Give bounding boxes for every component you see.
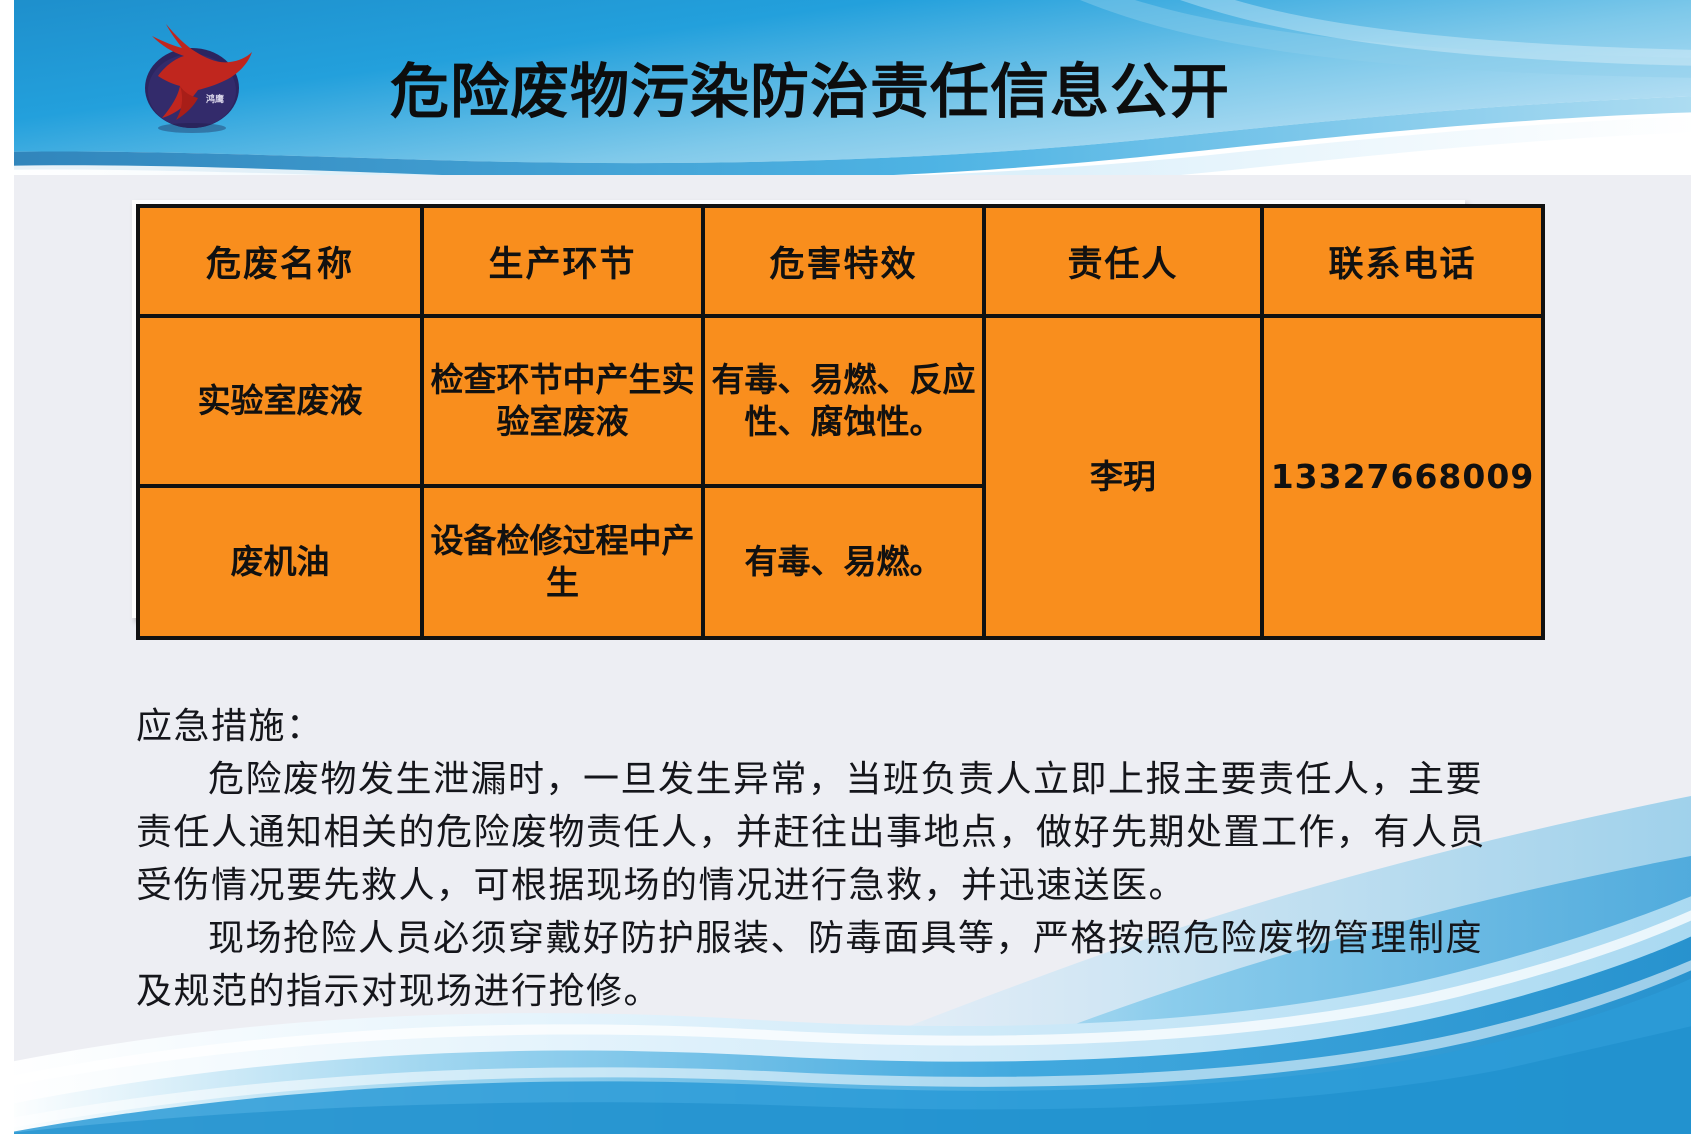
column-header-production: 生产环节 [422,206,703,316]
eagle-emblem-logo: 鸿鹰 [110,18,275,133]
column-header-hazard: 危害特效 [703,206,984,316]
cell-hazard: 有毒、易燃。 [703,486,984,638]
table-row: 实验室废液 检查环节中产生实验室废液 有毒、易燃、反应性、腐蚀性。 李玥 133… [138,316,1543,486]
right-page-edge [1691,0,1701,1134]
emergency-measures-block: 应急措施： 危险废物发生泄漏时，一旦发生异常，当班负责人立即上报主要责任人，主要… [136,700,1516,1018]
cell-waste-name: 废机油 [138,486,422,638]
emergency-heading: 应急措施： [136,700,1516,753]
column-header-waste-name: 危废名称 [138,206,422,316]
header-banner: 鸿鹰 危险废物污染防治责任信息公开 [0,0,1701,175]
cell-waste-name: 实验室废液 [138,316,422,486]
table-header-row: 危废名称 生产环节 危害特效 责任人 联系电话 [138,206,1543,316]
page-title: 危险废物污染防治责任信息公开 [390,52,1290,132]
emergency-paragraph-1: 危险废物发生泄漏时，一旦发生异常，当班负责人立即上报主要责任人，主要责任人通知相… [136,753,1516,912]
hazardous-waste-table: 危废名称 生产环节 危害特效 责任人 联系电话 实验室废液 检查环节中产生实验室… [136,204,1545,640]
column-header-phone: 联系电话 [1262,206,1543,316]
cell-responsible-person: 李玥 [984,316,1262,638]
cell-hazard: 有毒、易燃、反应性、腐蚀性。 [703,316,984,486]
cell-production: 设备检修过程中产生 [422,486,703,638]
column-header-responsible: 责任人 [984,206,1262,316]
emergency-paragraph-2: 现场抢险人员必须穿戴好防护服装、防毒面具等，严格按照危险废物管理制度及规范的指示… [136,912,1516,1018]
left-page-edge [0,0,14,1134]
cell-production: 检查环节中产生实验室废液 [422,316,703,486]
cell-contact-phone: 13327668009 [1262,316,1543,638]
slide-canvas: 鸿鹰 危险废物污染防治责任信息公开 危废名称 生产环节 危害特效 责任人 联系电… [0,0,1701,1134]
svg-text:鸿鹰: 鸿鹰 [206,93,224,105]
